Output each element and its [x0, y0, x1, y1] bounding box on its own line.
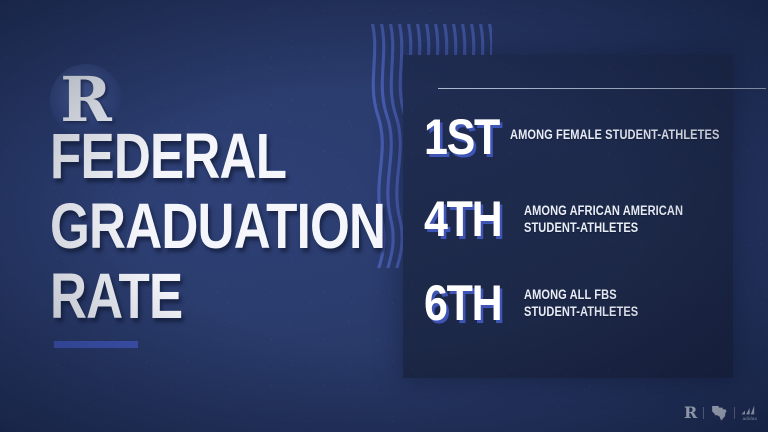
- stat-rank-label: AMONG AFRICAN AMERICAN STUDENT-ATHLETES: [524, 202, 683, 236]
- texas-state-logo-icon: [710, 404, 728, 422]
- stat-rank-value: 1ST: [424, 112, 507, 162]
- graphic-canvas: 1ST AMONG FEMALE STUDENT-ATHLETES 4TH AM…: [0, 0, 768, 432]
- rice-r-logo-icon: R: [684, 404, 697, 422]
- title-line-2: GRADUATION: [50, 194, 314, 258]
- adidas-wordmark: adidas: [743, 416, 757, 421]
- stat-rank-value: 4TH: [424, 194, 513, 244]
- title-line-1: FEDERAL: [50, 124, 314, 188]
- stat-rank-label: AMONG FEMALE STUDENT-ATHLETES: [510, 126, 719, 143]
- title-accent-bar: [54, 341, 138, 348]
- stat-rank-label: AMONG ALL FBS STUDENT-ATHLETES: [524, 286, 638, 320]
- title-line-3: RATE: [50, 264, 314, 328]
- panel-hairline-divider: [438, 88, 766, 89]
- footer-logo-bar: R adidas: [684, 402, 758, 424]
- stat-row: 4TH AMONG AFRICAN AMERICAN STUDENT-ATHLE…: [424, 194, 718, 244]
- rice-r-glyph: R: [684, 404, 697, 422]
- stat-rank-value: 6TH: [424, 278, 513, 328]
- logo-divider: [703, 407, 704, 419]
- logo-divider: [734, 407, 735, 419]
- stat-row: 1ST AMONG FEMALE STUDENT-ATHLETES: [424, 112, 765, 162]
- page-title: FEDERAL GRADUATION RATE: [50, 124, 380, 328]
- stat-row: 6TH AMONG ALL FBS STUDENT-ATHLETES: [424, 278, 663, 328]
- adidas-logo-icon: adidas: [741, 404, 758, 422]
